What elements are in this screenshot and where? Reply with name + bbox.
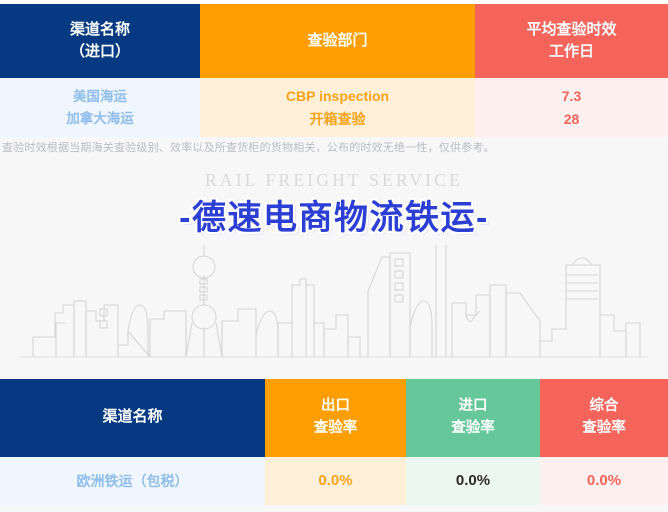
table-header-row: 渠道名称 出口 查验率 进口 查验率 综合 查验率 — [0, 379, 668, 457]
duration-us-sea: 7.3 — [475, 85, 668, 108]
header-channel-name-line1: 渠道名称 — [0, 406, 265, 429]
bottom-spacer — [0, 505, 668, 512]
cell-import-rate-value: 0.0% — [406, 457, 540, 505]
cell-channel-names: 美国海运 加拿大海运 — [0, 78, 200, 137]
header-average-duration-line1: 平均查验时效 — [475, 19, 668, 41]
inspection-table-body: 美国海运 加拿大海运 CBP inspection 开箱查验 7.3 28 — [0, 78, 668, 137]
header-channel-import-line1: 渠道名称 — [0, 19, 200, 41]
table-header-row: 渠道名称 （进口） 查验部门 平均查验时效 工作日 — [0, 4, 668, 78]
header-channel-import: 渠道名称 （进口） — [0, 4, 200, 78]
header-export-rate: 出口 查验率 — [265, 379, 406, 457]
cell-overall-rate-value: 0.0% — [540, 457, 668, 505]
inspection-note: 查验时效根据当期海关查验级别、效率以及所查货柜的货物相关，公布的时效无绝一性，仅… — [0, 137, 668, 157]
header-average-duration: 平均查验时效 工作日 — [475, 4, 668, 78]
header-overall-rate: 综合 查验率 — [540, 379, 668, 457]
header-channel-import-line2: （进口） — [0, 41, 200, 63]
inspection-table-head: 渠道名称 （进口） 查验部门 平均查验时效 工作日 — [0, 4, 668, 78]
channel-canada-sea: 加拿大海运 — [0, 108, 200, 130]
header-average-duration-line2: 工作日 — [475, 41, 668, 63]
cell-channel-europe-rail: 欧洲铁运（包税） — [0, 457, 265, 505]
department-cbp-inspection: CBP inspection — [200, 85, 475, 108]
header-export-rate-line1: 出口 — [265, 396, 406, 418]
banner-english-title: RAIL FREIGHT SERVICE — [0, 170, 668, 191]
header-export-rate-line2: 查验率 — [265, 418, 406, 440]
header-overall-rate-line2: 查验率 — [540, 418, 668, 440]
header-import-rate: 进口 查验率 — [406, 379, 540, 457]
channel-us-sea: 美国海运 — [0, 86, 200, 108]
duration-canada-sea: 28 — [475, 108, 668, 131]
rail-freight-banner: RAIL FREIGHT SERVICE -德速电商物流铁运- — [0, 157, 668, 379]
cell-departments: CBP inspection 开箱查验 — [200, 78, 475, 137]
cell-export-rate-value: 0.0% — [265, 457, 406, 505]
inspection-duration-table: 渠道名称 （进口） 查验部门 平均查验时效 工作日 美国海运 加拿大海运 — [0, 4, 668, 137]
rate-table-body: 欧洲铁运（包税） 0.0% 0.0% 0.0% — [0, 457, 668, 505]
header-overall-rate-line1: 综合 — [540, 396, 668, 418]
cell-durations: 7.3 28 — [475, 78, 668, 137]
city-skyline-illustration — [0, 245, 668, 365]
header-inspection-department-line1: 查验部门 — [200, 30, 475, 52]
header-import-rate-line2: 查验率 — [406, 418, 540, 440]
page-root: 渠道名称 （进口） 查验部门 平均查验时效 工作日 美国海运 加拿大海运 — [0, 0, 668, 512]
inspection-rate-table: 渠道名称 出口 查验率 进口 查验率 综合 查验率 欧洲铁运（包税） 0. — [0, 379, 668, 505]
header-inspection-department: 查验部门 — [200, 4, 475, 78]
header-channel-name: 渠道名称 — [0, 379, 265, 457]
header-import-rate-line1: 进口 — [406, 396, 540, 418]
banner-chinese-title: -德速电商物流铁运- — [0, 190, 668, 239]
department-container-open-check: 开箱查验 — [200, 108, 475, 131]
rate-table-head: 渠道名称 出口 查验率 进口 查验率 综合 查验率 — [0, 379, 668, 457]
table-row: 欧洲铁运（包税） 0.0% 0.0% 0.0% — [0, 457, 668, 505]
table-row: 美国海运 加拿大海运 CBP inspection 开箱查验 7.3 28 — [0, 78, 668, 137]
